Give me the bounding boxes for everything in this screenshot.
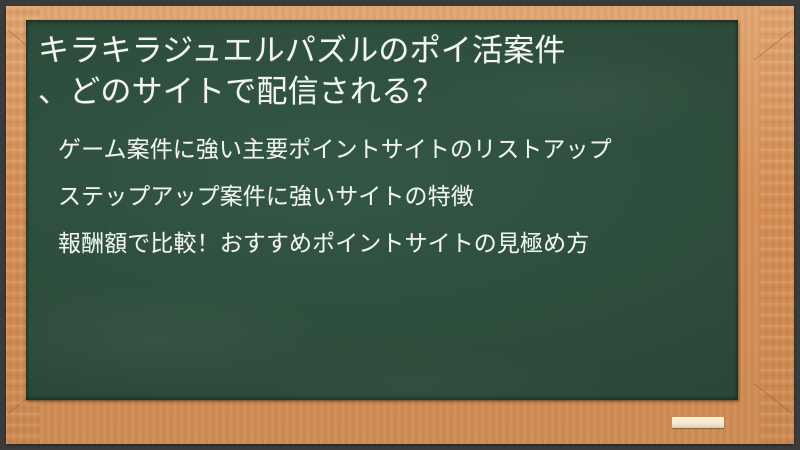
frame-right-stile	[760, 6, 794, 444]
list-item: 報酬額で比較！おすすめポイントサイトの見極め方	[38, 228, 722, 260]
chalkboard: キラキラジュエルパズルのポイ活案件 、どのサイトで配信される？ ゲーム案件に強い…	[26, 20, 738, 400]
page-title: キラキラジュエルパズルのポイ活案件 、どのサイトで配信される？	[38, 30, 722, 112]
board-content: キラキラジュエルパズルのポイ活案件 、どのサイトで配信される？ ゲーム案件に強い…	[26, 20, 738, 260]
slide-canvas: キラキラジュエルパズルのポイ活案件 、どのサイトで配信される？ ゲーム案件に強い…	[0, 0, 800, 450]
list-item: ステップアップ案件に強いサイトの特徴	[38, 181, 722, 213]
list-item: ゲーム案件に強い主要ポイントサイトのリストアップ	[38, 134, 722, 166]
frame-miter-top-right	[754, 30, 792, 60]
frame-miter-bottom-right	[754, 384, 792, 414]
chalk-stick	[672, 417, 724, 428]
topic-list: ゲーム案件に強い主要ポイントサイトのリストアップ ステップアップ案件に強いサイト…	[38, 134, 722, 259]
